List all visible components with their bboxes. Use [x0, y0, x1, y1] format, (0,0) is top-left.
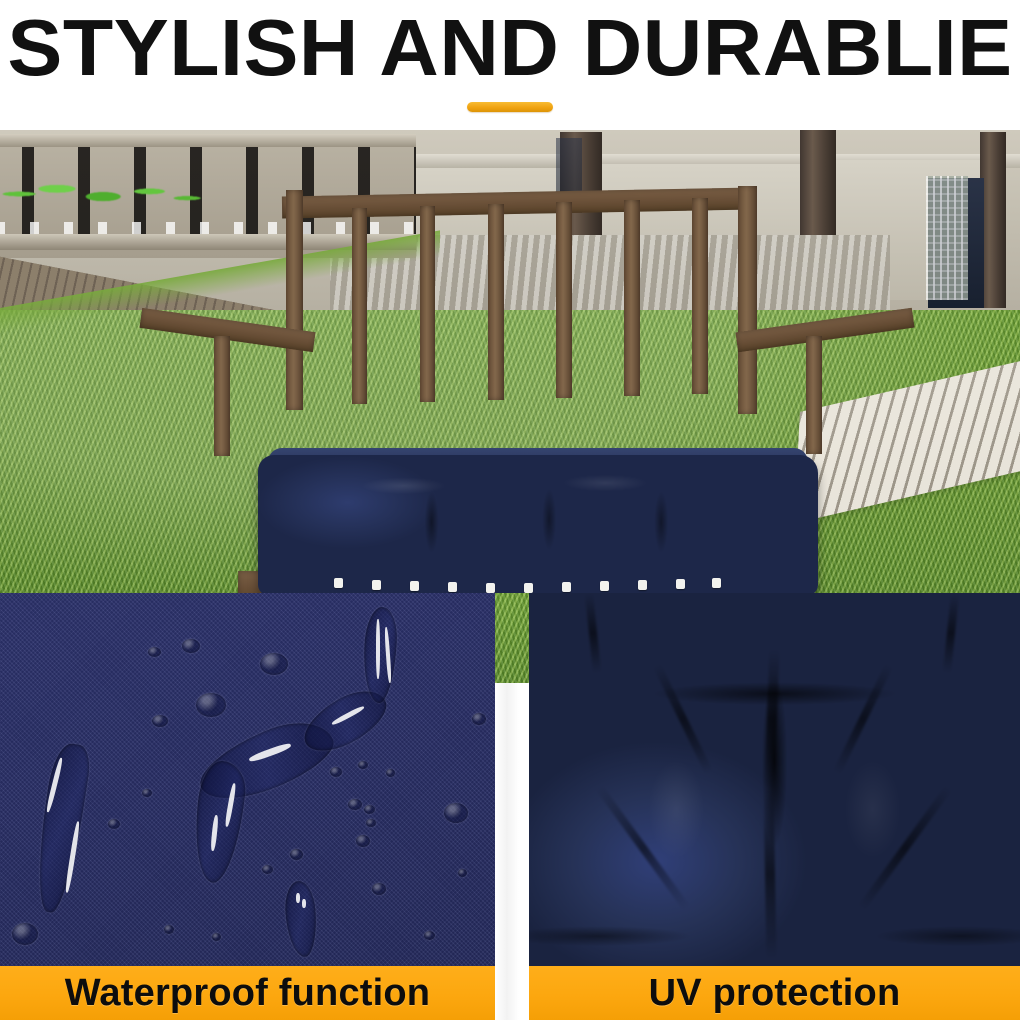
bench-back-slat	[488, 204, 504, 400]
bench-back-slat	[556, 202, 572, 398]
bench-back-slat	[692, 198, 708, 394]
water-droplet	[260, 653, 288, 675]
cushion-tie	[334, 578, 343, 588]
cushion-crease	[943, 593, 959, 673]
water-droplet	[472, 713, 486, 725]
bench-back-slat	[420, 206, 435, 402]
cushion-crease	[653, 663, 713, 774]
water-droplet	[182, 639, 200, 653]
water-droplet	[424, 931, 435, 940]
water-streak	[283, 880, 318, 958]
cushion-tie	[410, 581, 419, 591]
panel-divider	[495, 683, 529, 1020]
droplet-highlight	[302, 899, 306, 908]
water-droplet	[12, 923, 38, 945]
bench-arm-support-right	[806, 336, 822, 454]
feature-banner-uv: UV protection	[529, 966, 1020, 1020]
water-droplet	[212, 933, 221, 941]
water-droplet	[196, 693, 226, 717]
cushion-crease	[596, 785, 691, 911]
droplet-highlight	[376, 619, 380, 679]
cushion-crease	[765, 649, 780, 789]
cushion-tie	[562, 582, 571, 592]
cushion-tie	[486, 583, 495, 593]
bench-back-post	[286, 190, 303, 410]
water-droplet	[262, 865, 273, 874]
water-streak	[362, 606, 399, 704]
accent-divider-bar	[467, 102, 553, 112]
divider-grass-gap	[495, 593, 529, 685]
bench-armrest-right	[735, 308, 914, 353]
water-droplet	[152, 715, 168, 727]
water-droplet	[372, 883, 386, 895]
bench-back-slat	[352, 208, 367, 404]
feature-banner-waterproof: Waterproof function	[0, 966, 495, 1020]
water-droplet	[148, 647, 161, 657]
cushion-crease	[585, 593, 601, 673]
cushion-tie	[676, 579, 685, 589]
cushion-tie	[712, 578, 721, 588]
uv-cushion-image	[529, 593, 1020, 966]
water-droplet	[458, 869, 467, 877]
bench-back-post	[738, 186, 757, 414]
bench-back-slat	[624, 200, 640, 396]
water-droplet	[290, 849, 303, 860]
product-poster: STYLISH AND DURABLIE	[0, 0, 1020, 1020]
cushion-tie	[372, 580, 381, 590]
page-title: STYLISH AND DURABLIE	[0, 8, 1020, 88]
feature-panel-uv: UV protection	[529, 593, 1020, 1020]
cushion-tie	[638, 580, 647, 590]
cushion-tie	[600, 581, 609, 591]
waterproof-fabric-image	[0, 593, 495, 966]
cushion-tie	[524, 583, 533, 593]
water-droplet	[356, 835, 370, 847]
water-droplet	[330, 767, 342, 777]
water-droplet	[444, 803, 468, 823]
feature-label-uv: UV protection	[649, 973, 901, 1013]
water-droplet	[358, 761, 368, 769]
cushion-crease	[858, 785, 953, 911]
cushion-crease	[833, 663, 893, 774]
water-droplet	[348, 799, 362, 810]
cushion-tie	[448, 582, 457, 592]
water-droplet	[386, 769, 395, 777]
cushion-crease	[764, 789, 777, 959]
bench-arm-support-left	[214, 336, 230, 456]
navy-tufted-cushion	[258, 455, 818, 595]
feature-label-waterproof: Waterproof function	[65, 973, 430, 1013]
water-droplet	[108, 819, 120, 829]
water-streak	[190, 759, 249, 885]
poster-header: STYLISH AND DURABLIE	[0, 0, 1020, 130]
water-droplet	[164, 925, 174, 934]
water-droplet	[142, 789, 152, 797]
hero-product-photo	[0, 130, 1020, 595]
droplet-highlight	[296, 893, 300, 903]
feature-panel-waterproof: Waterproof function	[0, 593, 495, 1020]
water-droplet	[364, 805, 375, 814]
water-droplet	[366, 819, 376, 827]
